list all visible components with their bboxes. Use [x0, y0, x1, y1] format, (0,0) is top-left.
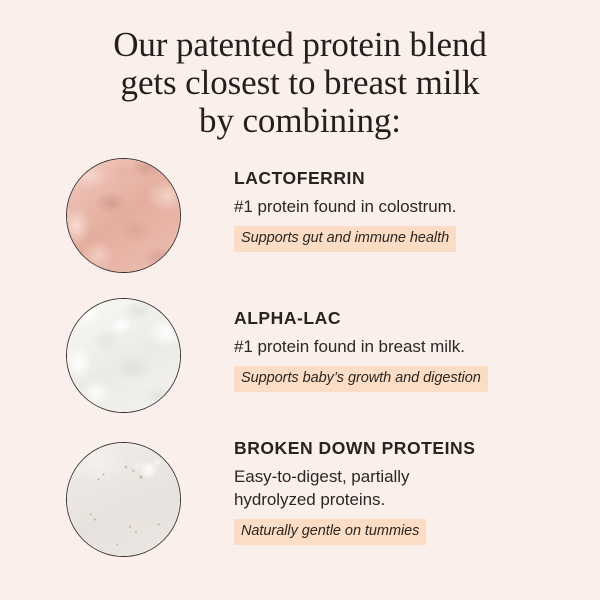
ingredient-description: Easy-to-digest, partially hydrolyzed pro… — [234, 465, 574, 511]
white-powder-texture — [66, 298, 181, 413]
list-item: BROKEN DOWN PROTEINS Easy-to-digest, par… — [0, 436, 600, 581]
headline-line-3: by combining: — [0, 102, 600, 140]
status-badge: Naturally gentle on tummies — [234, 519, 426, 545]
headline-line-1: Our patented protein blend — [0, 26, 600, 64]
ingredient-title: ALPHA-LAC — [234, 308, 574, 329]
ingredient-title: LACTOFERRIN — [234, 168, 574, 189]
milk-droplets-circle-icon — [66, 442, 181, 557]
ingredient-title: BROKEN DOWN PROTEINS — [234, 438, 574, 459]
ingredient-description-line-1: Easy-to-digest, partially — [234, 467, 409, 486]
page-title: Our patented protein blend gets closest … — [0, 26, 600, 140]
ingredient-description: #1 protein found in colostrum. — [234, 195, 574, 218]
ingredient-text-broken-down-proteins: BROKEN DOWN PROTEINS Easy-to-digest, par… — [234, 438, 574, 545]
white-powder-circle-icon — [66, 298, 181, 413]
list-item: LACTOFERRIN #1 protein found in colostru… — [0, 156, 600, 296]
ingredient-tag-row: Supports gut and immune health — [234, 226, 574, 252]
ingredient-description-line-2: hydrolyzed proteins. — [234, 490, 385, 509]
ingredient-image-lactoferrin — [66, 158, 181, 273]
ingredient-tag-row: Naturally gentle on tummies — [234, 519, 574, 545]
status-badge: Supports baby’s growth and digestion — [234, 366, 488, 392]
pink-powder-texture — [66, 158, 181, 273]
protein-blend-infographic: Our patented protein blend gets closest … — [0, 0, 600, 600]
ingredient-text-lactoferrin: LACTOFERRIN #1 protein found in colostru… — [234, 168, 574, 252]
ingredient-list: LACTOFERRIN #1 protein found in colostru… — [0, 156, 600, 581]
ingredient-tag-row: Supports baby’s growth and digestion — [234, 366, 574, 392]
status-badge: Supports gut and immune health — [234, 226, 456, 252]
headline-line-2: gets closest to breast milk — [0, 64, 600, 102]
milk-droplets-texture — [66, 442, 181, 557]
ingredient-text-alpha-lac: ALPHA-LAC #1 protein found in breast mil… — [234, 308, 574, 392]
pink-powder-circle-icon — [66, 158, 181, 273]
ingredient-description: #1 protein found in breast milk. — [234, 335, 574, 358]
ingredient-image-alpha-lac — [66, 298, 181, 413]
ingredient-image-broken-down-proteins — [66, 442, 181, 557]
list-item: ALPHA-LAC #1 protein found in breast mil… — [0, 296, 600, 436]
